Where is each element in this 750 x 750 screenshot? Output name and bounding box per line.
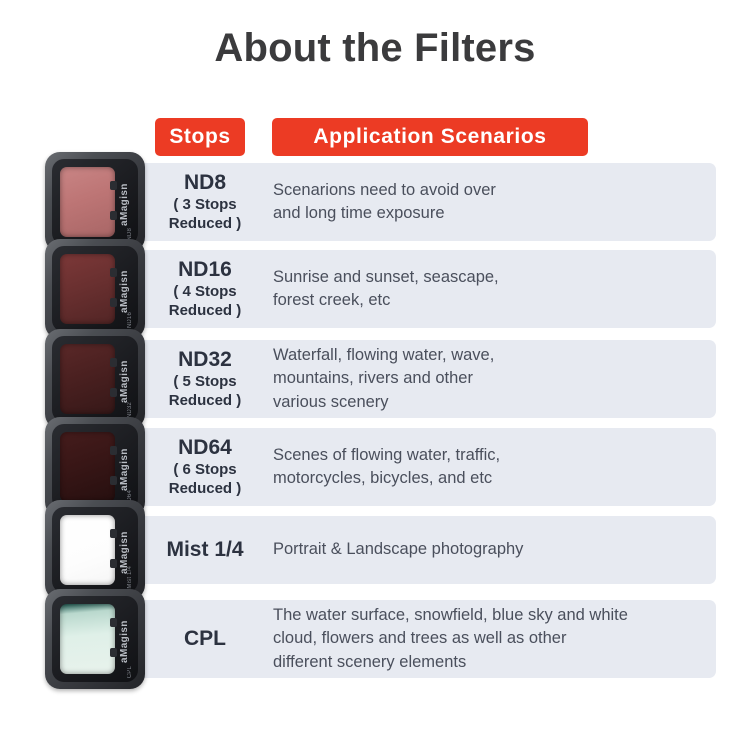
description-line: motorcycles, bicycles, and etc (273, 467, 702, 490)
row-description-cell: The water surface, snowfield, blue sky a… (273, 600, 702, 678)
filter-stops-sub-line2: Reduced ) (169, 480, 242, 497)
filter-name: CPL (184, 627, 226, 651)
filter-frame: aMagisnND8 (45, 152, 145, 252)
row-stops-cell: CPL (145, 600, 265, 678)
filter-stops-sub-line2: Reduced ) (169, 392, 242, 409)
filter-notch-bottom-icon (110, 388, 117, 397)
filter-notch-top-icon (110, 268, 117, 277)
row-stops-cell: Mist 1/4 (145, 516, 265, 584)
brand-label: aMagisn (120, 429, 134, 491)
filter-stops-sub: ( 6 StopsReduced ) (169, 461, 242, 499)
filter-model-label: CPL (127, 666, 133, 678)
filter-notch-bottom-icon (110, 559, 117, 568)
description-line: various scenery (273, 391, 702, 414)
filter-stops-sub-line1: ( 6 Stops (173, 461, 236, 478)
filter-stops-sub: ( 3 StopsReduced ) (169, 196, 242, 234)
description-line: cloud, flowers and trees as well as othe… (273, 627, 702, 650)
description-line: Waterfall, flowing water, wave, (273, 344, 702, 367)
filter-name: ND64 (178, 436, 232, 460)
filter-product-image: aMagisnMist 1/4 (45, 500, 145, 600)
filter-frame: aMagisnMist 1/4 (45, 500, 145, 600)
row-stops-cell: ND64( 6 StopsReduced ) (145, 428, 265, 506)
description-line: forest creek, etc (273, 289, 702, 312)
filter-notch-bottom-icon (110, 648, 117, 657)
filter-glass (60, 167, 115, 237)
description-line: and long time exposure (273, 202, 702, 225)
filter-product-image: aMagisnCPL (45, 589, 145, 689)
filter-glass (60, 515, 115, 585)
filter-notch-top-icon (110, 446, 117, 455)
filter-model-label: ND32 (127, 402, 133, 418)
description-line: Portrait & Landscape photography (273, 538, 702, 561)
filter-stops-sub-line1: ( 4 Stops (173, 283, 236, 300)
brand-label: aMagisn (120, 164, 134, 226)
brand-label: aMagisn (120, 601, 134, 663)
table-row: aMagisnND64ND64( 6 StopsReduced )Scenes … (45, 428, 716, 506)
filter-glass (60, 432, 115, 502)
filter-notch-top-icon (110, 181, 117, 190)
filter-frame: aMagisnCPL (45, 589, 145, 689)
row-description-cell: Portrait & Landscape photography (273, 516, 702, 584)
table-row: aMagisnND8ND8( 3 StopsReduced )Scenarion… (45, 163, 716, 241)
filter-stops-sub-line2: Reduced ) (169, 215, 242, 232)
filter-notch-top-icon (110, 618, 117, 627)
filter-product-image: aMagisnND8 (45, 152, 145, 252)
filter-notch-top-icon (110, 529, 117, 538)
row-stops-cell: ND32( 5 StopsReduced ) (145, 340, 265, 418)
table-row: aMagisnCPLCPLThe water surface, snowfiel… (45, 600, 716, 678)
filter-model-label: Mist 1/4 (127, 566, 133, 589)
table-row: aMagisnND16ND16( 4 StopsReduced )Sunrise… (45, 250, 716, 328)
filter-glass (60, 254, 115, 324)
filter-frame: aMagisnND16 (45, 239, 145, 339)
filter-notch-top-icon (110, 358, 117, 367)
filter-table: aMagisnND8ND8( 3 StopsReduced )Scenarion… (0, 0, 750, 750)
filter-product-image: aMagisnND32 (45, 329, 145, 429)
filter-product-image: aMagisnND16 (45, 239, 145, 339)
filter-frame: aMagisnND32 (45, 329, 145, 429)
filter-stops-sub: ( 4 StopsReduced ) (169, 283, 242, 321)
filter-model-label: ND16 (127, 312, 133, 328)
filter-name: ND8 (184, 171, 226, 195)
brand-label: aMagisn (120, 341, 134, 403)
description-line: Scenes of flowing water, traffic, (273, 444, 702, 467)
row-stops-cell: ND8( 3 StopsReduced ) (145, 163, 265, 241)
filter-stops-sub-line2: Reduced ) (169, 302, 242, 319)
row-description-cell: Scenes of flowing water, traffic,motorcy… (273, 428, 702, 506)
brand-label: aMagisn (120, 251, 134, 313)
filter-name: ND16 (178, 258, 232, 282)
description-line: Scenarions need to avoid over (273, 179, 702, 202)
filter-name: ND32 (178, 348, 232, 372)
description-line: Sunrise and sunset, seascape, (273, 266, 702, 289)
filter-notch-bottom-icon (110, 298, 117, 307)
filter-notch-bottom-icon (110, 211, 117, 220)
filter-stops-sub-line1: ( 5 Stops (173, 373, 236, 390)
filter-notch-bottom-icon (110, 476, 117, 485)
filter-glass (60, 604, 115, 674)
row-description-cell: Sunrise and sunset, seascape,forest cree… (273, 250, 702, 328)
table-row: aMagisnMist 1/4Mist 1/4Portrait & Landsc… (45, 516, 716, 584)
row-description-cell: Scenarions need to avoid overand long ti… (273, 163, 702, 241)
table-row: aMagisnND32ND32( 5 StopsReduced )Waterfa… (45, 340, 716, 418)
filter-glass (60, 344, 115, 414)
description-line: mountains, rivers and other (273, 367, 702, 390)
row-description-cell: Waterfall, flowing water, wave,mountains… (273, 340, 702, 418)
description-line: different scenery elements (273, 651, 702, 674)
description-line: The water surface, snowfield, blue sky a… (273, 604, 702, 627)
row-stops-cell: ND16( 4 StopsReduced ) (145, 250, 265, 328)
filter-stops-sub: ( 5 StopsReduced ) (169, 373, 242, 411)
filter-stops-sub-line1: ( 3 Stops (173, 196, 236, 213)
filter-name: Mist 1/4 (166, 538, 243, 562)
